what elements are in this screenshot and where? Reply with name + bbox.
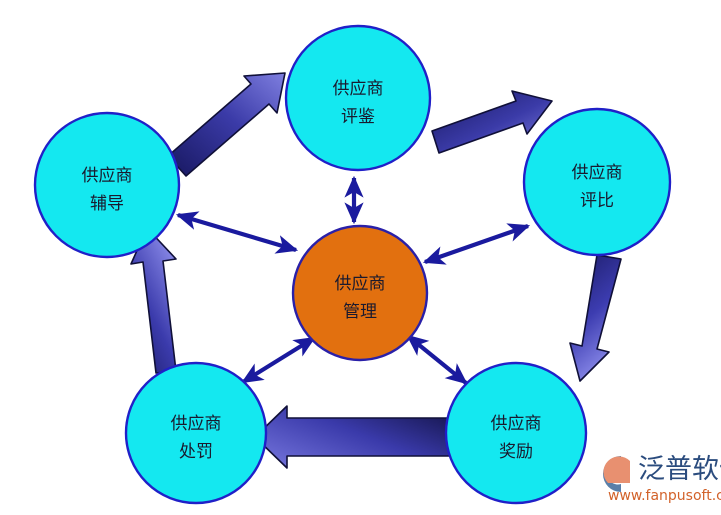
node-supplier-penalty[interactable]: 供应商 处罚 bbox=[126, 363, 266, 503]
node-label-supplier-coaching-line2: 辅导 bbox=[90, 194, 124, 214]
node-label-supplier-reward-line1: 供应商 bbox=[491, 414, 542, 434]
supplier-management-diagram: 供应商 评鉴 供应商 评比 供应商 奖励 供应商 处罚 供应商 bbox=[0, 0, 721, 515]
spoke-reward-center bbox=[408, 336, 466, 383]
node-label-supplier-penalty-line2: 处罚 bbox=[179, 442, 213, 462]
spoke-penalty-center bbox=[243, 338, 314, 382]
node-supplier-evaluation[interactable]: 供应商 评鉴 bbox=[286, 26, 430, 170]
watermark: 泛普软件 www.fanpusoft.com bbox=[603, 454, 721, 504]
fanpu-c-logo-icon bbox=[603, 456, 630, 492]
arrow-reward-to-penalty bbox=[255, 406, 450, 468]
node-label-supplier-penalty-line1: 供应商 bbox=[171, 414, 222, 434]
watermark-url: www.fanpusoft.com bbox=[608, 488, 721, 504]
arrow-coaching-to-evaluation bbox=[168, 73, 285, 176]
watermark-brand: 泛普软件 bbox=[638, 454, 721, 485]
node-label-supplier-evaluation-line2: 评鉴 bbox=[341, 107, 375, 127]
spoke-comparison-center bbox=[425, 226, 528, 262]
node-supplier-reward[interactable]: 供应商 奖励 bbox=[446, 363, 586, 503]
node-supplier-coaching[interactable]: 供应商 辅导 bbox=[35, 113, 179, 257]
node-label-supplier-management-line1: 供应商 bbox=[335, 274, 386, 294]
node-supplier-management[interactable]: 供应商 管理 bbox=[293, 226, 427, 360]
node-label-supplier-coaching-line1: 供应商 bbox=[82, 166, 133, 186]
node-supplier-comparison[interactable]: 供应商 评比 bbox=[524, 109, 670, 255]
spoke-coaching-center bbox=[178, 215, 296, 250]
node-label-supplier-comparison-line1: 供应商 bbox=[572, 163, 623, 183]
node-label-supplier-comparison-line2: 评比 bbox=[580, 191, 614, 211]
arrow-comparison-to-reward bbox=[570, 255, 621, 381]
diagram-canvas: 供应商 评鉴 供应商 评比 供应商 奖励 供应商 处罚 供应商 bbox=[0, 0, 721, 515]
node-label-supplier-evaluation-line1: 供应商 bbox=[333, 79, 384, 99]
node-label-supplier-reward-line2: 奖励 bbox=[499, 442, 533, 462]
node-label-supplier-management-line2: 管理 bbox=[343, 302, 377, 322]
